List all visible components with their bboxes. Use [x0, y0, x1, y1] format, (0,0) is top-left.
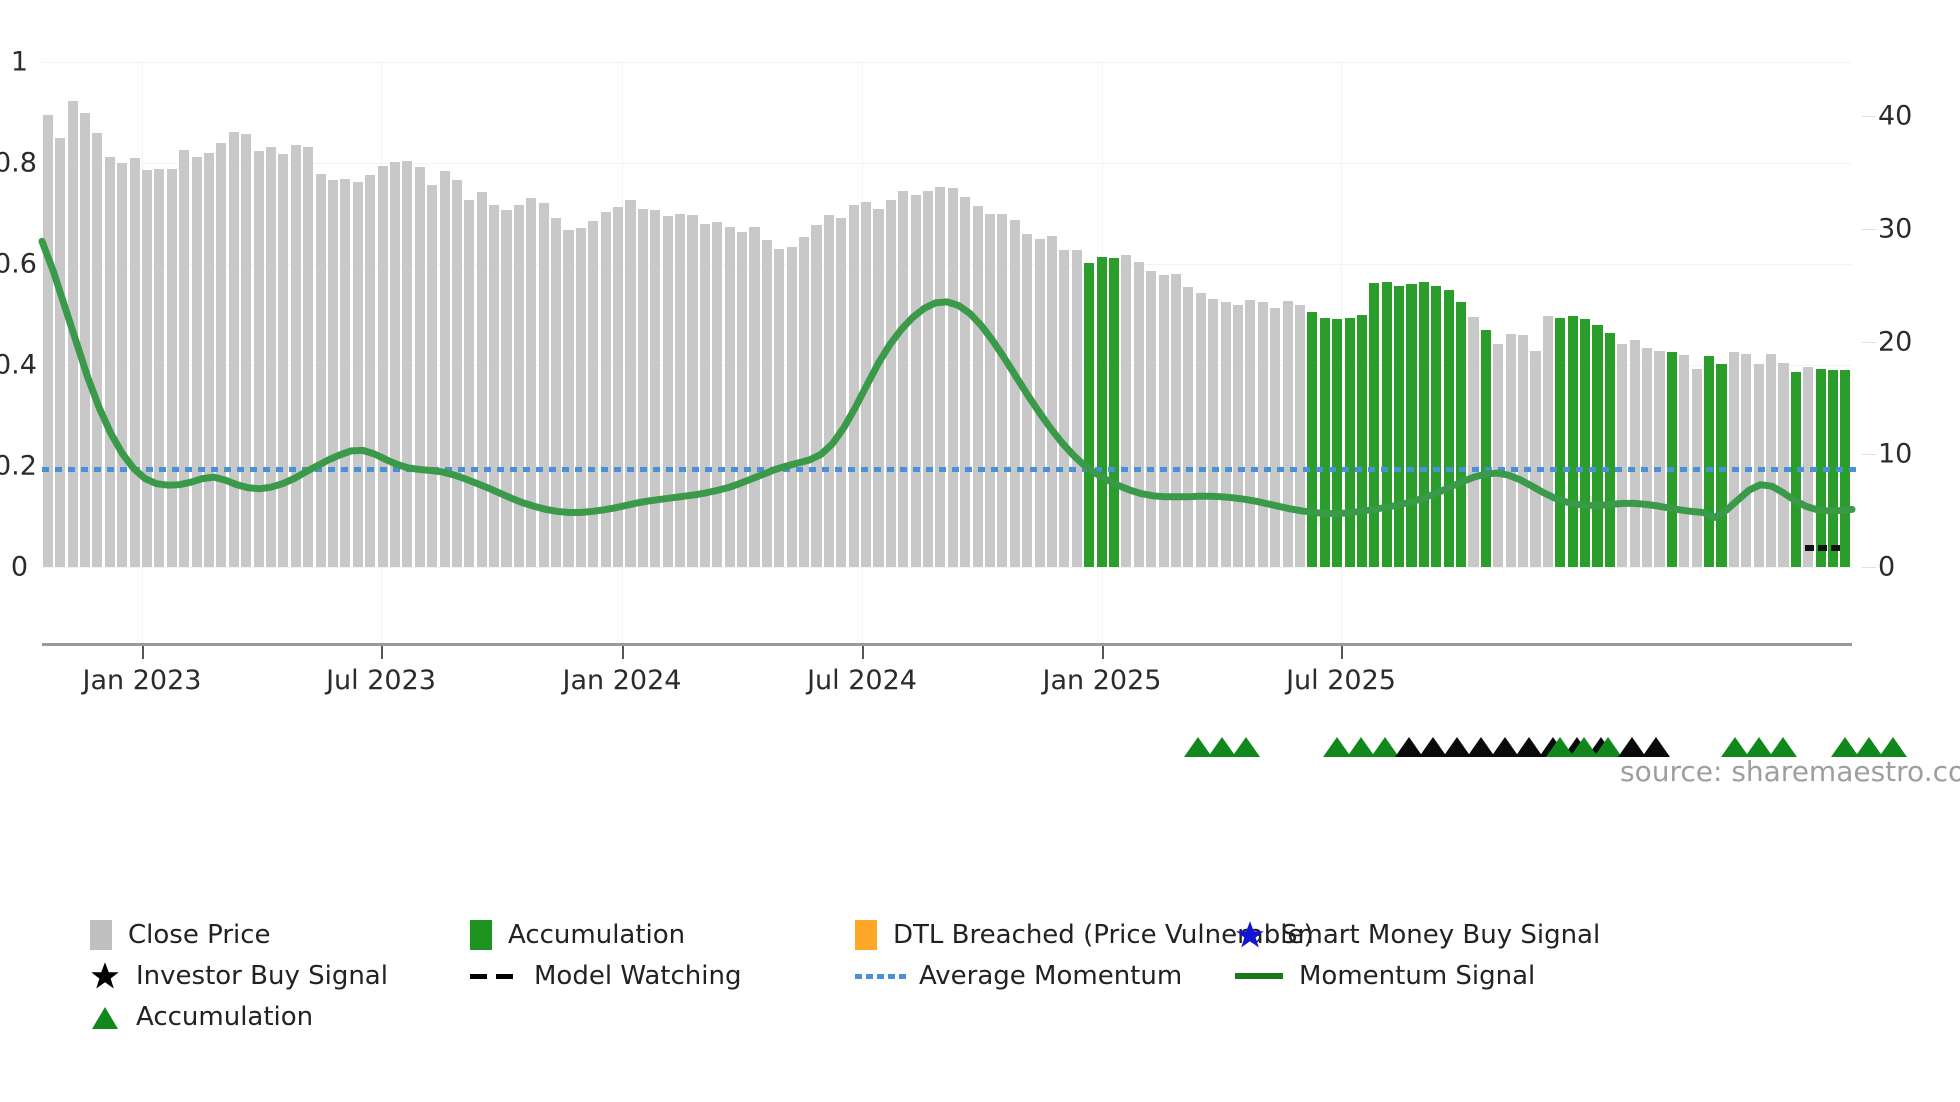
legend-swatch-dash-icon: [470, 961, 518, 991]
x-axis-tick-label: Jul 2025: [1286, 665, 1396, 696]
legend-item[interactable]: Average Momentum: [855, 961, 1182, 991]
right-axis-tick: [1862, 454, 1876, 455]
x-axis-tick-label: Jan 2025: [1043, 665, 1162, 696]
x-axis-tick-mark: [1341, 646, 1343, 659]
legend-item[interactable]: Accumulation: [90, 1002, 313, 1032]
y-axis-left-tick-label: 0.4: [0, 350, 28, 381]
legend-label: Model Watching: [534, 961, 741, 991]
legend-swatch-rect-icon: [90, 920, 112, 950]
y-axis-left-tick-label: 0.6: [0, 249, 28, 280]
y-axis-right-tick-label: 30: [1878, 213, 1912, 244]
x-axis-tick-label: Jan 2023: [83, 665, 202, 696]
right-axis-tick: [1862, 116, 1876, 117]
model-watching-dash: [1805, 545, 1841, 551]
y-axis-left-tick-label: 1: [0, 47, 28, 78]
legend-swatch-rect-icon: [855, 920, 877, 950]
accumulation-triangle-marker: [1232, 737, 1260, 757]
gridline: [42, 567, 1852, 568]
legend-item[interactable]: Smart Money Buy Signal: [1235, 920, 1600, 950]
y-axis-right-tick-label: 10: [1878, 439, 1912, 470]
right-axis-tick: [1862, 229, 1876, 230]
x-axis-tick-mark: [1102, 646, 1104, 659]
y-axis-right-tick-label: 40: [1878, 101, 1912, 132]
x-axis-tick-mark: [862, 646, 864, 659]
accumulation-triangle-marker: [1642, 737, 1670, 757]
momentum-path: [42, 241, 1852, 517]
legend-label: Accumulation: [136, 1002, 313, 1032]
legend-swatch-line-icon: [1235, 961, 1283, 991]
legend-item[interactable]: Momentum Signal: [1235, 961, 1535, 991]
momentum-signal-line: [42, 62, 1852, 567]
legend-item[interactable]: Accumulation: [470, 920, 685, 950]
right-axis-tick: [1862, 567, 1876, 568]
legend-label: Close Price: [128, 920, 271, 950]
legend-item[interactable]: Close Price: [90, 920, 271, 950]
right-axis-tick: [1862, 342, 1876, 343]
legend-label: Average Momentum: [919, 961, 1182, 991]
legend-label: Smart Money Buy Signal: [1281, 920, 1600, 950]
legend-label: Accumulation: [508, 920, 685, 950]
accumulation-triangle-marker: [1879, 737, 1907, 757]
x-axis-tick-mark: [142, 646, 144, 659]
legend-item[interactable]: Model Watching: [470, 961, 741, 991]
y-axis-right-tick-label: 20: [1878, 326, 1912, 357]
y-axis-left-tick-label: 0.8: [0, 148, 28, 179]
x-axis-tick-label: Jul 2023: [326, 665, 436, 696]
legend-label: Investor Buy Signal: [136, 961, 388, 991]
chart-root: 00.20.40.60.81 010203040 Jan 2023Jul 202…: [0, 0, 1960, 1102]
source-label: source: sharemaestro.com: [1620, 755, 1960, 788]
legend-swatch-rect-icon: [470, 920, 492, 950]
x-axis-tick-mark: [381, 646, 383, 659]
legend-label: Momentum Signal: [1299, 961, 1535, 991]
legend-swatch-star-icon: [1235, 920, 1265, 950]
legend-item[interactable]: Investor Buy Signal: [90, 961, 388, 991]
accumulation-triangle-marker: [1769, 737, 1797, 757]
legend-swatch-triangle-icon: [90, 1002, 120, 1032]
x-axis-tick-mark: [622, 646, 624, 659]
y-axis-right-tick-label: 0: [1878, 552, 1895, 583]
x-axis-tick-label: Jul 2024: [807, 665, 917, 696]
x-axis-line: [42, 643, 1852, 646]
legend-swatch-star-icon: [90, 961, 120, 991]
legend-swatch-dotted-icon: [855, 961, 903, 991]
x-axis-tick-label: Jan 2024: [563, 665, 682, 696]
y-axis-left-tick-label: 0.2: [0, 451, 28, 482]
y-axis-left-tick-label: 0: [0, 552, 28, 583]
